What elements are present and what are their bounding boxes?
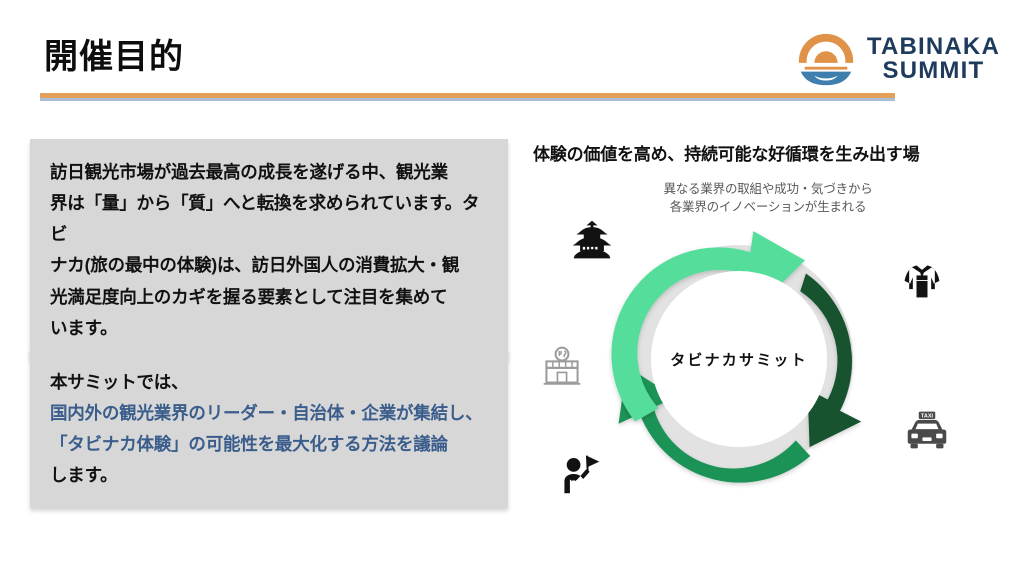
intro-line: 訪日観光市場が過去最高の成長を遂げる中、観光業 [50,157,486,188]
logo-wordmark: TABINAKA SUMMIT [867,35,1000,84]
intro-line: 界は「量」から「質」へと転換を求められています。タビ [50,188,486,250]
castle-icon [570,218,614,262]
svg-text:TAXI: TAXI [921,414,934,420]
summit-text-card: 本サミットでは、 国内外の観光業界のリーダー・自治体・企業が集結し、 「タビナカ… [30,349,508,508]
guide-icon [558,452,602,496]
summit-line: 「タビナカ体験」の可能性を最大化する方法を議論 [50,429,486,460]
tabinaka-sun-bridge-wave-icon [795,28,857,90]
brand-logo: TABINAKA SUMMIT [795,28,1000,90]
diagram-heading: 体験の価値を高め、持続可能な好循環を生み出す場 [533,140,1003,165]
taxi-icon: TAXI [900,408,954,452]
title-divider-blue [40,98,895,101]
logo-line-2: SUMMIT [883,59,985,83]
intro-text-card: 訪日観光市場が過去最高の成長を遂げる中、観光業 界は「量」から「質」へと転換を求… [30,139,508,360]
intro-line: 光満足度向上のカギを握る要素として注目を集めて [50,282,486,313]
intro-line: います。 [50,313,486,344]
center-disc [651,271,827,447]
shop-icon [540,344,584,388]
summit-line: します。 [50,460,486,491]
cycle-arrows-svg [588,208,890,510]
intro-line: ナカ(旅の最中の体験)は、訪日外国人の消費拡大・観 [50,250,486,281]
logo-line-1: TABINAKA [867,35,1000,59]
summit-line: 国内外の観光業界のリーダー・自治体・企業が集結し、 [50,398,486,429]
virtuous-cycle-diagram: タビナカサミット [588,208,890,510]
title-divider [40,93,895,101]
diagram-subtitle-line-1: 異なる業界の取組や成功・気づきから [553,180,983,198]
kimono-icon [900,258,944,302]
summit-line: 本サミットでは、 [50,367,486,398]
page-title: 開催目的 [44,40,184,74]
